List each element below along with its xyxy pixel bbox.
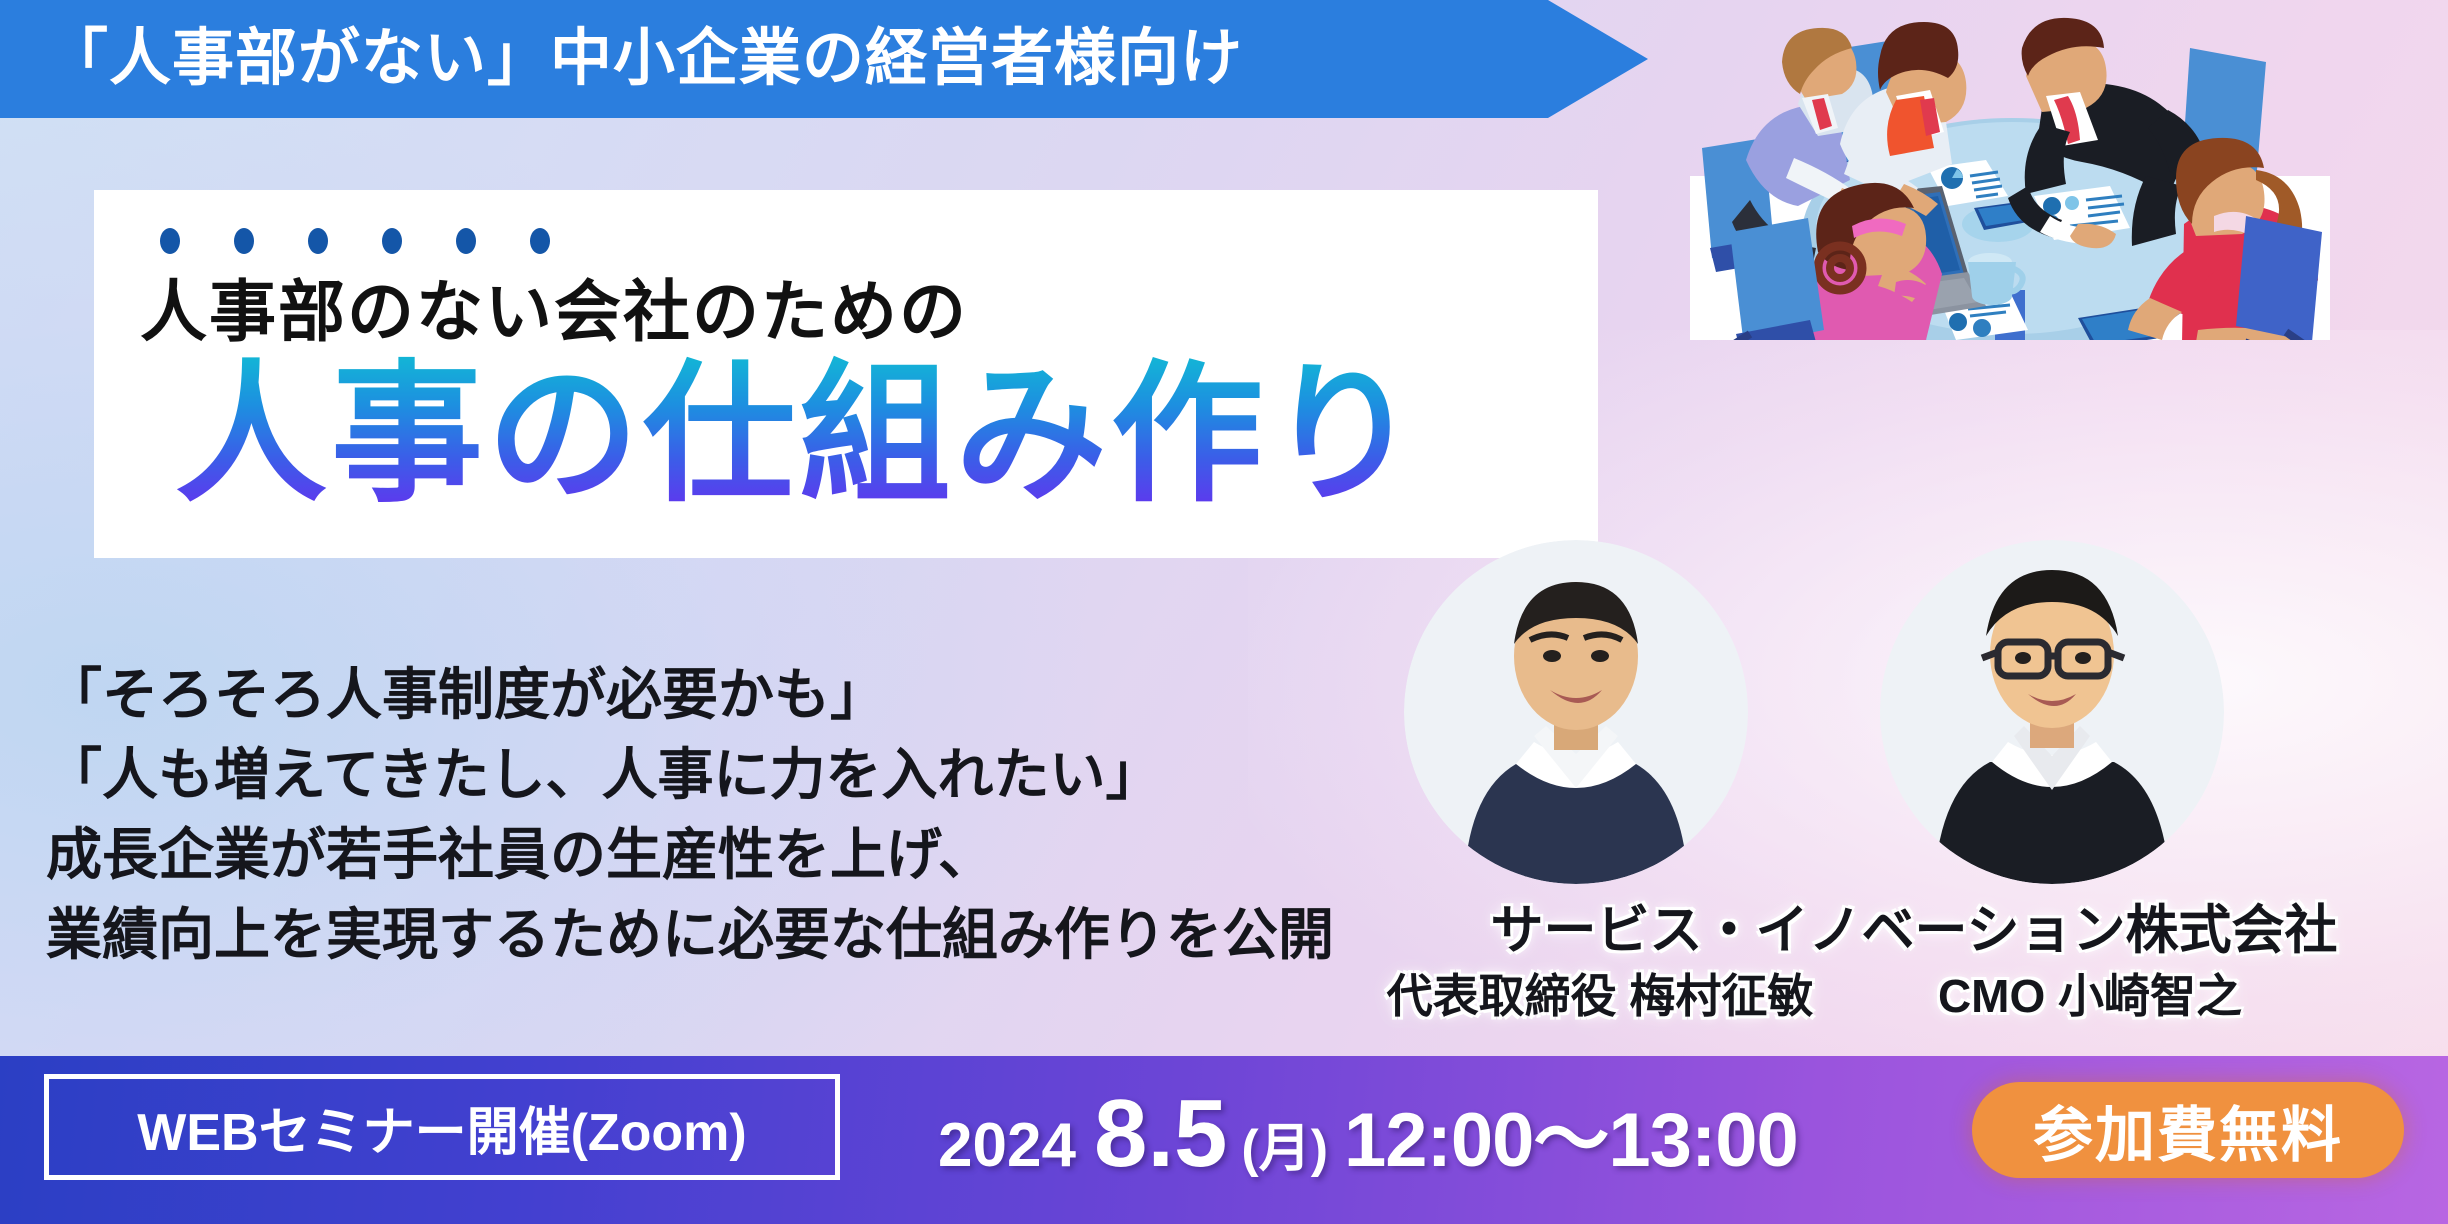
seminar-description: 「そろそろ人事制度が必要かも」「人も増えてきたし、人事に力を入れたい」成長企業が… bbox=[46, 655, 1334, 975]
emphasis-dot bbox=[530, 228, 550, 254]
seminar-time: 12:00〜13:00 bbox=[1344, 1078, 1798, 1188]
seminar-format-box: WEBセミナー開催(Zoom) bbox=[44, 1074, 840, 1180]
emphasis-dot bbox=[160, 228, 180, 254]
isometric-meeting-illustration bbox=[1690, 0, 2330, 340]
free-admission-label: 参加費無料 bbox=[2033, 1087, 2343, 1174]
emphasis-dot bbox=[382, 228, 402, 254]
speaker-1-avatar bbox=[1404, 540, 1748, 884]
emphasis-dot bbox=[234, 228, 254, 254]
emphasis-dot bbox=[456, 228, 476, 254]
seminar-year: 2024 bbox=[938, 1110, 1076, 1181]
seminar-subtitle: 人事部のない会社のための bbox=[140, 258, 968, 355]
webinar-banner: 「人事部がない」中小企業の経営者様向け 人事部のない会社のための 人事の仕組み作… bbox=[0, 0, 2448, 1224]
speaker-1-name: 代表取締役 梅村征敏 bbox=[1360, 960, 1840, 1026]
seminar-day: 8.5 bbox=[1094, 1079, 1227, 1189]
seminar-day-of-week: (月) bbox=[1241, 1106, 1328, 1181]
free-admission-badge: 参加費無料 bbox=[1972, 1082, 2404, 1178]
seminar-format-label: WEBセミナー開催(Zoom) bbox=[137, 1090, 746, 1165]
speaker-2-name: CMO 小崎智之 bbox=[1870, 960, 2310, 1026]
speaker-company-name: サービス・イノベーション株式会社 bbox=[1380, 888, 2448, 964]
emphasis-dot bbox=[308, 228, 328, 254]
seminar-datetime: 2024 8.5 (月) 12:00〜13:00 bbox=[938, 1078, 1798, 1189]
target-audience-text: 「人事部がない」中小企業の経営者様向け bbox=[46, 14, 1243, 104]
seminar-main-title: 人事の仕組み作り bbox=[175, 348, 1423, 523]
emphasis-dots bbox=[160, 228, 550, 254]
speaker-2-avatar bbox=[1880, 540, 2224, 884]
